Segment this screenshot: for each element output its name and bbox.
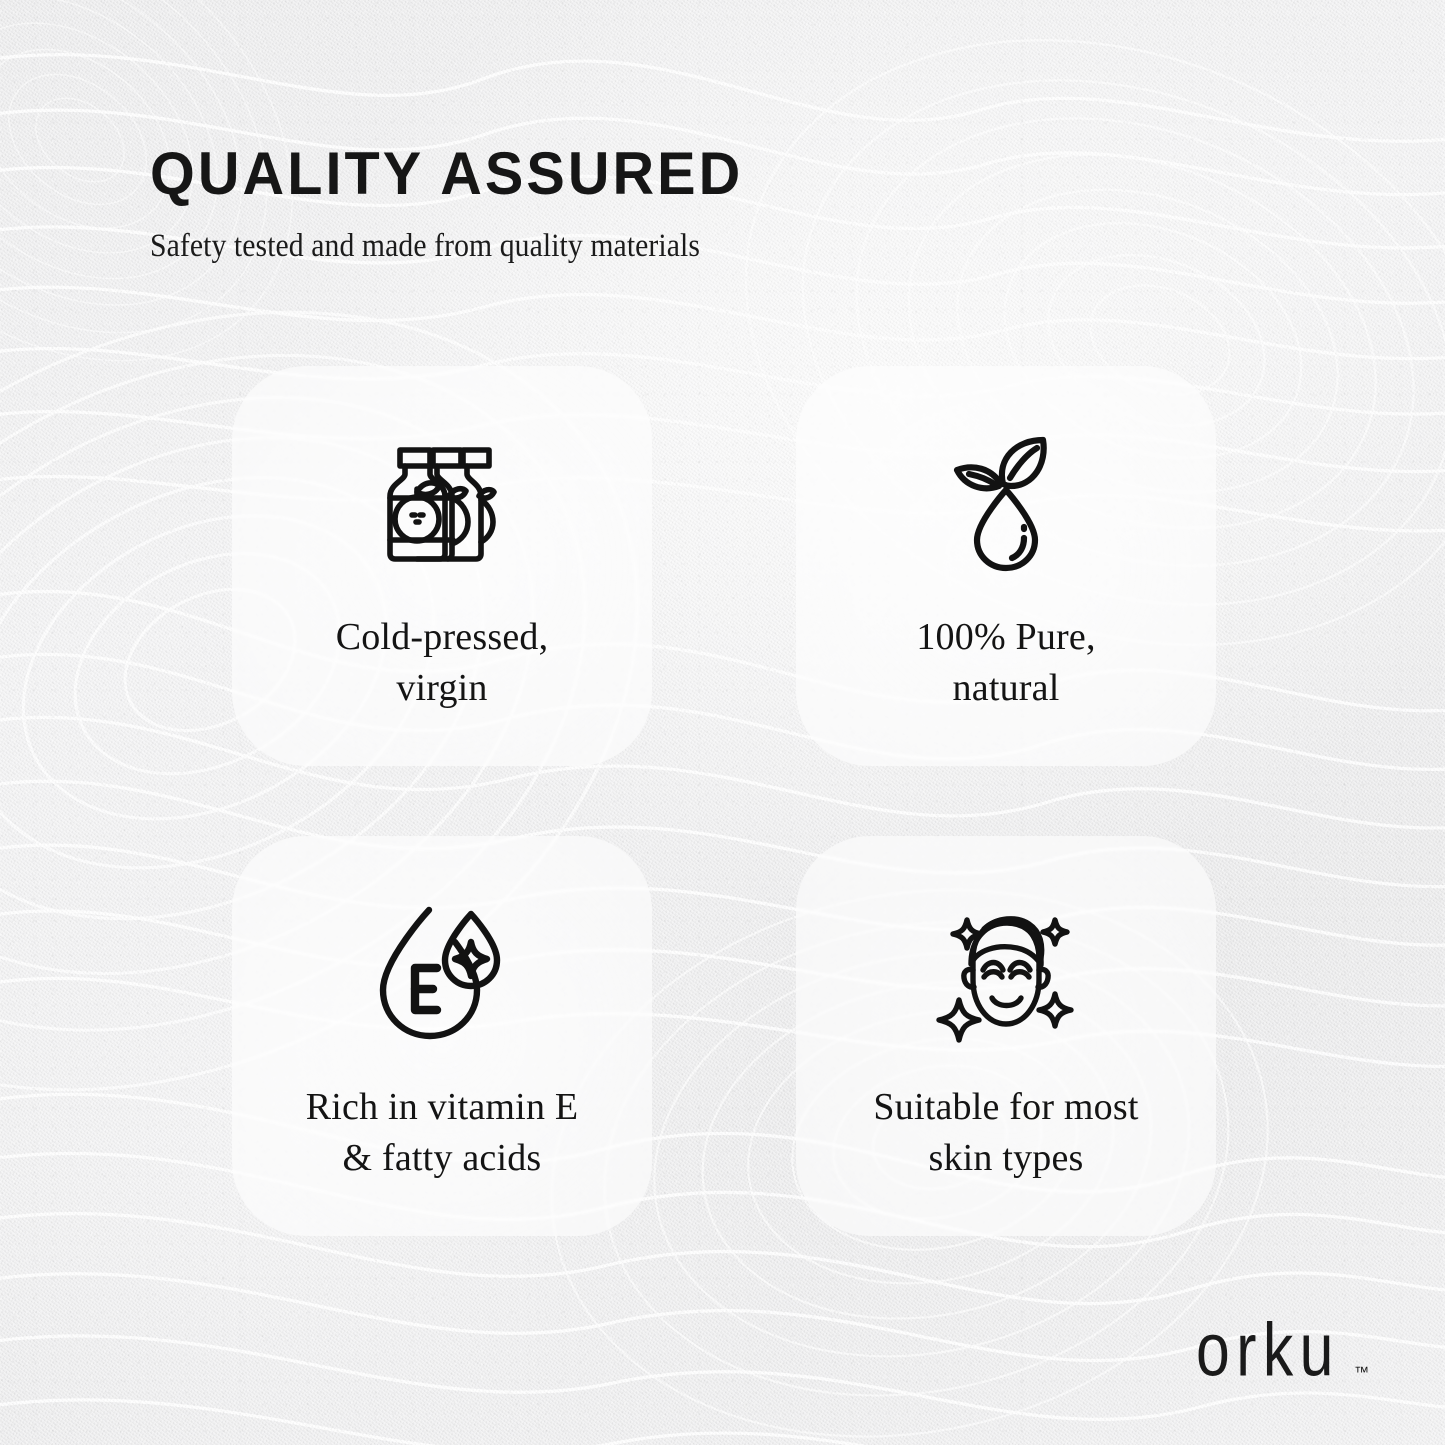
sparkling-face-icon	[931, 898, 1081, 1048]
page-subtitle: Safety tested and made from quality mate…	[150, 228, 960, 264]
header: QUALITY ASSURED Safety tested and made f…	[150, 144, 1050, 264]
feature-label: Suitable for most skin types	[855, 1082, 1156, 1184]
feature-card-skin-types: Suitable for most skin types	[796, 836, 1216, 1236]
page-title: QUALITY ASSURED	[150, 144, 1014, 204]
vitamin-e-droplet-icon	[367, 898, 517, 1048]
feature-label: Cold-pressed, virgin	[318, 612, 567, 714]
quality-assured-infographic: QUALITY ASSURED Safety tested and made f…	[0, 0, 1445, 1445]
feature-card-vitamin-e: Rich in vitamin E & fatty acids	[232, 836, 652, 1236]
jars-icon	[367, 428, 517, 578]
leaf-droplet-icon	[931, 428, 1081, 578]
feature-label: Rich in vitamin E & fatty acids	[288, 1082, 597, 1184]
logo-wordmark: orku	[1196, 1312, 1340, 1387]
feature-label: 100% Pure, natural	[898, 612, 1113, 714]
feature-card-cold-pressed: Cold-pressed, virgin	[232, 366, 652, 766]
brand-logo: orku ™	[1196, 1321, 1369, 1387]
trademark-symbol: ™	[1354, 1364, 1369, 1381]
feature-card-pure-natural: 100% Pure, natural	[796, 366, 1216, 766]
